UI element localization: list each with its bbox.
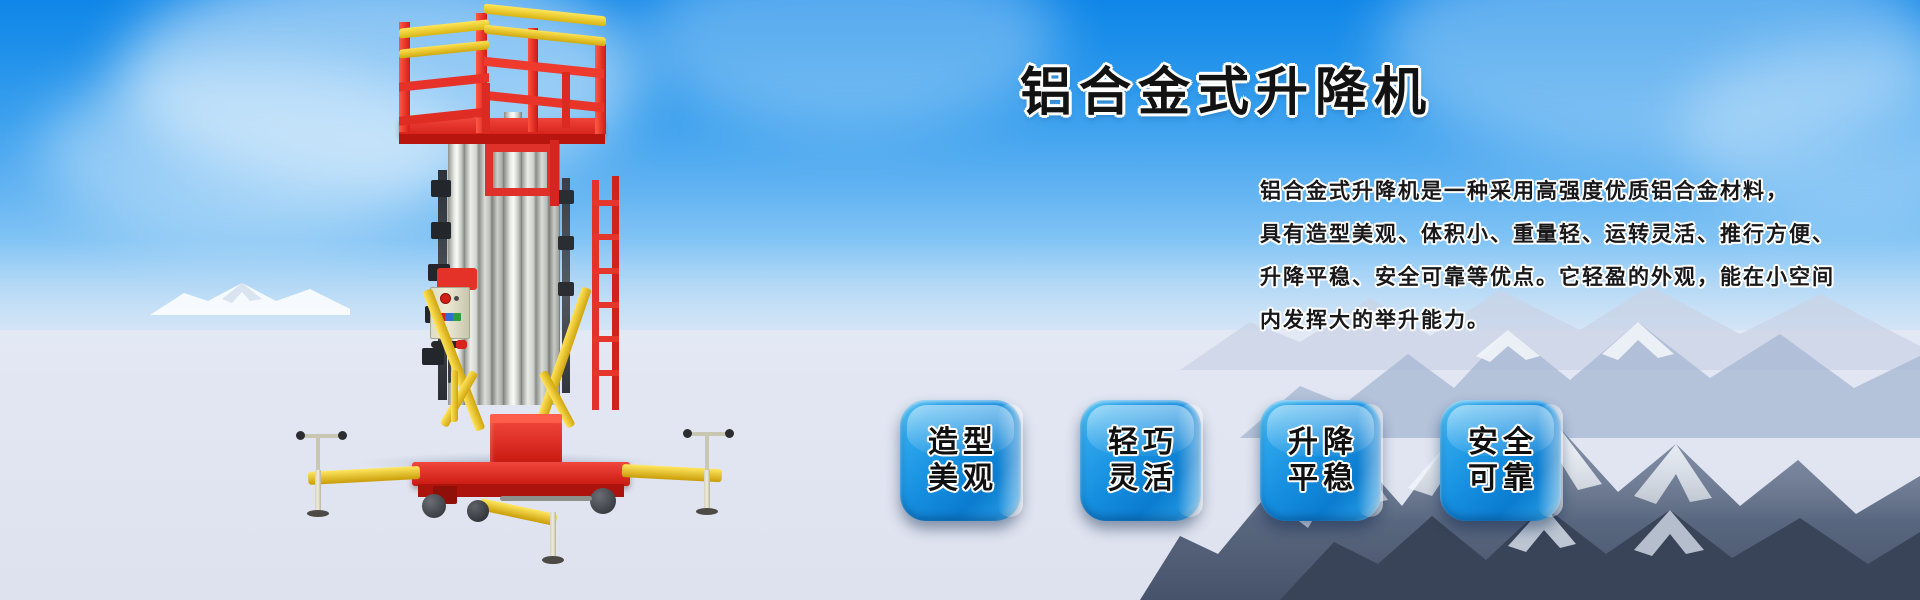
badge-line-1: 安全 <box>1463 425 1538 461</box>
outrigger-foot <box>696 508 718 515</box>
ladder-rung <box>592 370 619 376</box>
cage-rail <box>482 83 490 133</box>
platform-deck-front <box>399 134 605 144</box>
feature-badge-group: 造型 美观 轻巧 灵活 升降 平稳 安全 可靠 <box>900 400 1561 521</box>
ladder-rung <box>592 336 619 342</box>
roller-bracket <box>558 190 574 204</box>
control-handle-grip[interactable] <box>456 340 467 349</box>
roller-bracket <box>558 236 574 250</box>
motor-box-top <box>490 414 562 423</box>
yellow-outrigger <box>308 466 421 485</box>
cage-rail <box>484 91 604 113</box>
outrigger-upright <box>316 434 320 470</box>
outrigger-leg <box>550 512 556 558</box>
outrigger-upright <box>705 432 709 470</box>
cage-post <box>528 28 538 132</box>
indicator-lamp <box>454 296 459 301</box>
badge-line-2: 灵活 <box>1103 461 1178 497</box>
badge-line-1: 轻巧 <box>1103 425 1178 461</box>
yellow-brace <box>451 370 458 422</box>
page-title: 铝合金式升降机 <box>1020 50 1433 125</box>
feature-badge-appearance[interactable]: 造型 美观 <box>900 400 1021 521</box>
red-chassis <box>412 462 630 486</box>
cage-rail <box>484 57 604 79</box>
outrigger-knob <box>338 431 347 440</box>
feature-badge-smooth-lift[interactable]: 升降 平稳 <box>1260 400 1381 521</box>
cage-post <box>595 40 606 134</box>
badge-line-2: 美观 <box>923 461 998 497</box>
caster-wheel <box>590 488 616 514</box>
product-banner: 铝合金式升降机 铝合金式升降机是一种采用高强度优质铝合金材料， 具有造型美观、体… <box>0 0 1920 600</box>
wheel-axle <box>500 496 592 501</box>
motor-box <box>490 420 562 464</box>
roller-bracket <box>422 348 444 365</box>
caster-wheel <box>467 500 489 522</box>
emergency-stop-button[interactable] <box>441 294 450 303</box>
outrigger-knob <box>683 429 692 438</box>
badge-line-2: 可靠 <box>1463 461 1538 497</box>
outrigger-foot <box>307 510 329 517</box>
yellow-outrigger <box>479 498 558 526</box>
roller-bracket <box>431 180 451 197</box>
cage-support-frame <box>550 140 559 206</box>
badge-line-1: 升降 <box>1283 425 1358 461</box>
yellow-top-rail <box>484 25 606 47</box>
cage-support-frame <box>485 144 555 196</box>
ladder-rung <box>592 234 619 240</box>
outrigger-knob <box>296 431 305 440</box>
caster-wheel <box>422 494 446 518</box>
feature-badge-safety[interactable]: 安全 可靠 <box>1440 400 1561 521</box>
yellow-top-rail <box>484 4 606 27</box>
product-image-lift-platform <box>300 0 720 600</box>
ladder-rung <box>592 268 619 274</box>
aluminium-mast <box>465 122 479 405</box>
feature-badge-lightweight[interactable]: 轻巧 灵活 <box>1080 400 1201 521</box>
cage-rail <box>562 72 570 128</box>
outrigger-knob <box>725 429 734 438</box>
ladder-rung <box>592 302 619 308</box>
badge-line-1: 造型 <box>923 425 998 461</box>
outrigger-leg <box>704 470 710 510</box>
roller-bracket <box>431 222 451 239</box>
roller-bracket <box>558 282 574 296</box>
ladder-rung <box>592 200 619 206</box>
outrigger-foot <box>542 556 564 564</box>
outrigger-leg <box>315 470 321 512</box>
badge-line-2: 平稳 <box>1283 461 1358 497</box>
